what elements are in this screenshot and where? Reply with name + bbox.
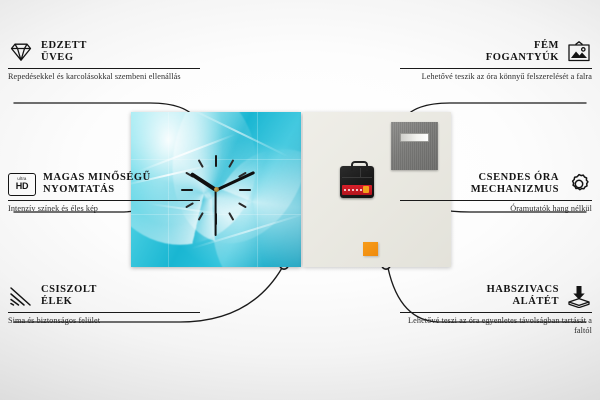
callout-description: Sima és biztonságos felület bbox=[8, 316, 200, 326]
callout-title-line1: CSISZOLT bbox=[41, 284, 97, 295]
callout-title-line2: MECHANIZMUS bbox=[471, 184, 559, 195]
callout-title-line2: ÜVEG bbox=[41, 52, 74, 63]
callout-description: Óramutatók hang nélkül bbox=[400, 204, 592, 214]
picture-hanger-icon bbox=[566, 40, 592, 64]
foam-pad bbox=[363, 242, 378, 256]
callout-high-quality-print: ultra HD MAGAS MINŐSÉGŰ NYOMTATÁS Intenz… bbox=[8, 172, 200, 214]
callout-title-line1: CSENDES ÓRA bbox=[479, 172, 559, 183]
callout-description: Lehetővé teszik az óra könnyű felszerelé… bbox=[400, 72, 592, 82]
foam-pad-icon bbox=[566, 284, 592, 308]
metal-hanger-plate bbox=[391, 122, 438, 170]
callout-title-line2: ALÁTÉT bbox=[513, 296, 559, 307]
callout-title-line2: FOGANTYÚK bbox=[486, 52, 559, 63]
battery-compartment bbox=[342, 185, 372, 195]
callout-title-line1: MAGAS MINŐSÉGŰ bbox=[43, 172, 151, 183]
clock-second-hand bbox=[215, 190, 217, 236]
callout-title-line1: FÉM bbox=[534, 40, 559, 51]
callout-description: Lehetővé teszi az óra egyenletes távolsá… bbox=[400, 316, 592, 336]
infographic-canvas: EDZETT ÜVEG Repedésekkel és karcolásokka… bbox=[0, 0, 600, 400]
divider bbox=[8, 68, 200, 69]
callout-title-line1: HABSZIVACS bbox=[487, 284, 559, 295]
callout-description: Repedésekkel és karcolásokkal szembeni e… bbox=[8, 72, 200, 82]
divider bbox=[8, 200, 200, 201]
callout-polished-edges: CSISZOLT ÉLEK Sima és biztonságos felüle… bbox=[8, 284, 200, 326]
ultra-hd-main-text: HD bbox=[16, 182, 29, 191]
callout-description: Intenzív színek és éles kép bbox=[8, 204, 200, 214]
polished-edges-icon bbox=[8, 284, 34, 308]
callout-title-line2: NYOMTATÁS bbox=[43, 184, 115, 195]
gear-icon bbox=[566, 172, 592, 196]
divider bbox=[8, 312, 200, 313]
callout-title-line1: EDZETT bbox=[41, 40, 87, 51]
ultra-hd-icon: ultra HD bbox=[8, 173, 36, 196]
callout-title-line2: ÉLEK bbox=[41, 296, 72, 307]
clock-center-pin bbox=[214, 187, 219, 192]
callout-silent-mechanism: CSENDES ÓRA MECHANIZMUS Óramutatók hang … bbox=[400, 172, 592, 214]
divider bbox=[400, 200, 592, 201]
divider bbox=[400, 68, 592, 69]
quartz-mechanism bbox=[340, 166, 374, 198]
diamond-icon bbox=[8, 40, 34, 64]
callout-foam-pad: HABSZIVACS ALÁTÉT Lehetővé teszi az óra … bbox=[400, 284, 592, 336]
callout-tempered-glass: EDZETT ÜVEG Repedésekkel és karcolásokka… bbox=[8, 40, 200, 82]
callout-metal-handles: FÉM FOGANTYÚK Lehetővé teszik az óra kön… bbox=[400, 40, 592, 82]
divider bbox=[400, 312, 592, 313]
